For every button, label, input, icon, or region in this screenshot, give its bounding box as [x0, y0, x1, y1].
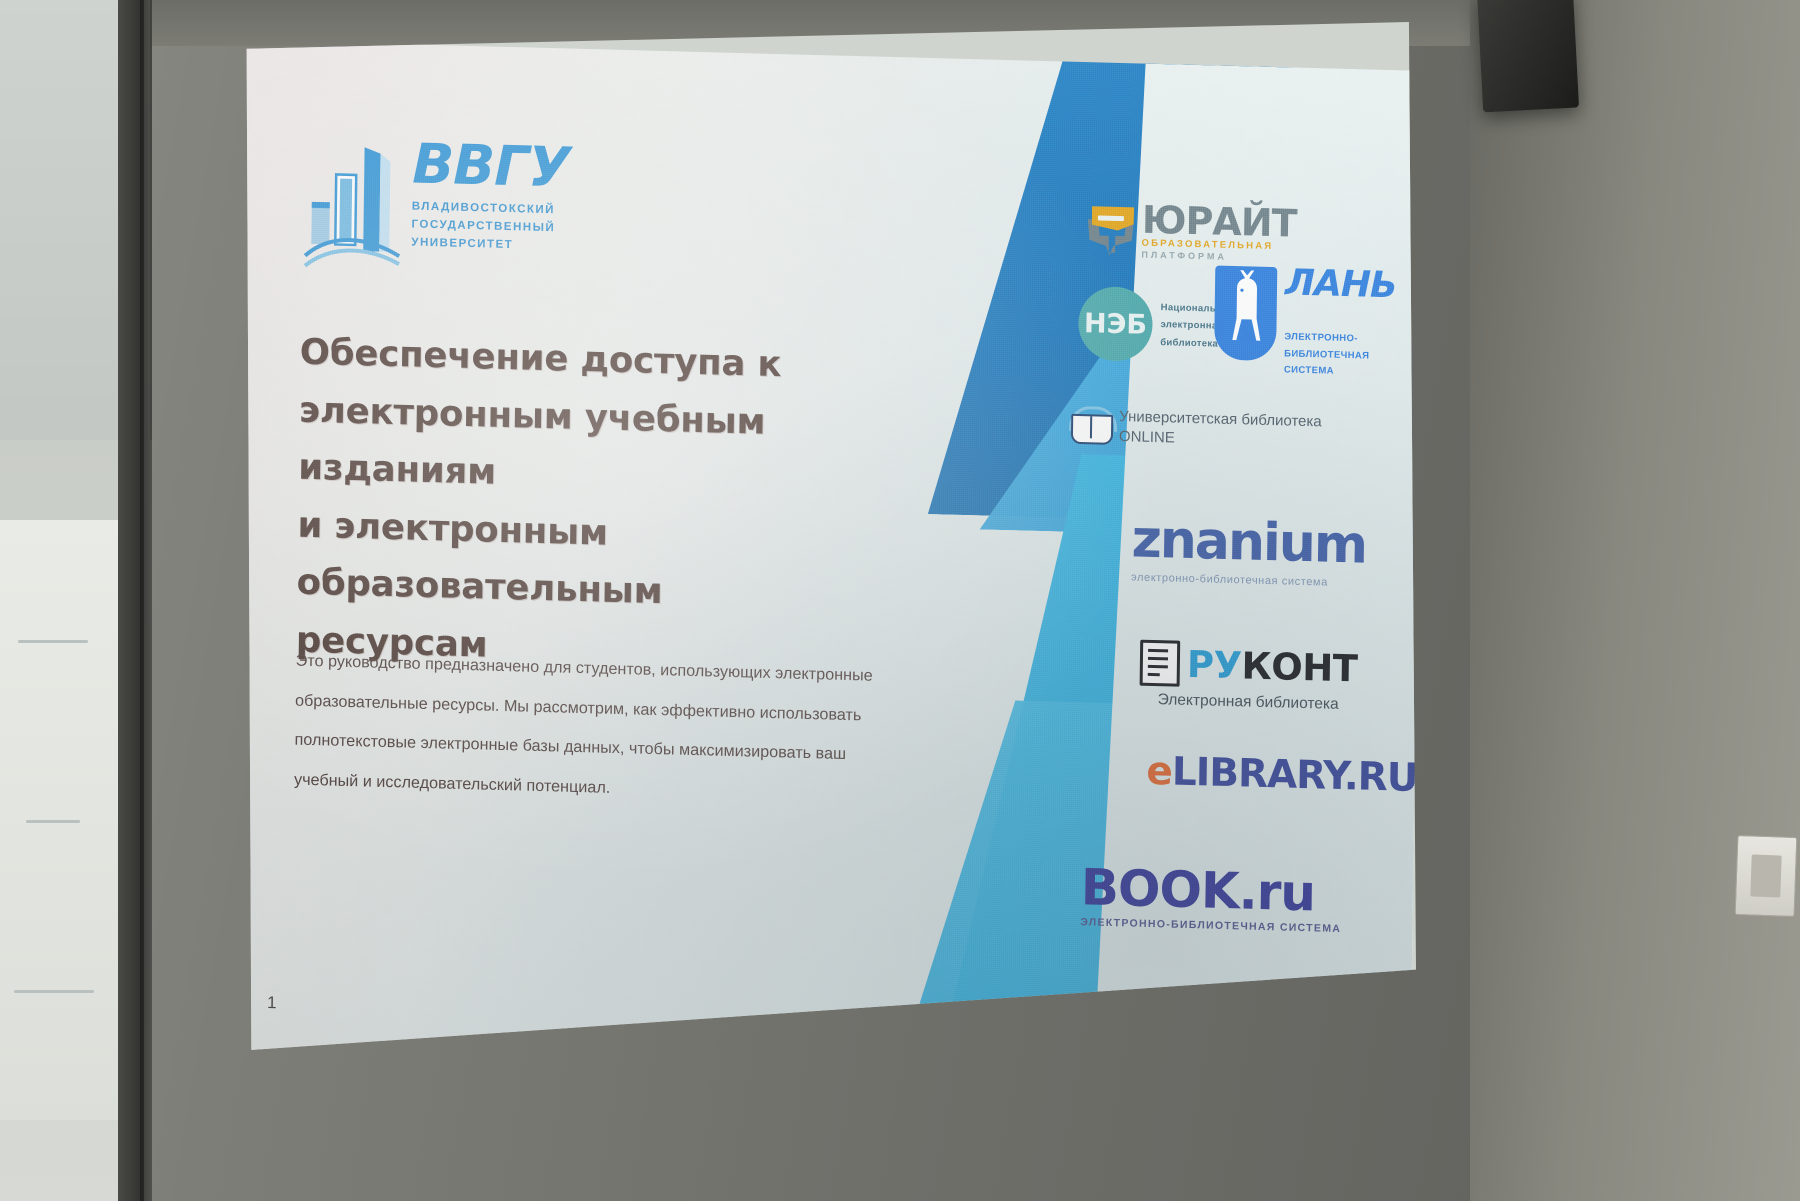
- whiteboard: [0, 520, 123, 1120]
- title-line-3: и электронным образовательным: [296, 496, 918, 627]
- slide-body-text: Это руководство предназначено для студен…: [294, 642, 896, 816]
- urait-book-flag-icon: [1087, 203, 1136, 258]
- urait-name: ЮРАЙТ: [1142, 202, 1297, 242]
- wall-corner-edge: [140, 0, 152, 1201]
- lan-deer-shield-icon: [1214, 266, 1277, 362]
- ceiling-speaker: [1477, 0, 1579, 112]
- presentation-slide: ВВГУ ВЛАДИВОСТОКСКИЙ ГОСУДАРСТВЕННЫЙ УНИ…: [230, 40, 1424, 1101]
- university-logo: ВВГУ ВЛАДИВОСТОКСКИЙ ГОСУДАРСТВЕННЫЙ УНИ…: [303, 134, 625, 302]
- logo-elibrary: eLIBRARY.RU: [1146, 752, 1417, 798]
- projection-screen: ВВГУ ВЛАДИВОСТОКСКИЙ ГОСУДАРСТВЕННЫЙ УНИ…: [236, 22, 1416, 1052]
- rukont-name-prefix: РУ: [1187, 642, 1242, 686]
- title-line-2: электронным учебным изданиям: [298, 381, 920, 512]
- logo-urait: ЮРАЙТ ОБРАЗОВАТЕЛЬНАЯ ПЛАТФОРМА: [1087, 200, 1388, 267]
- vvgu-buildings-icon: [303, 138, 409, 273]
- slide-page-number: 1: [267, 993, 277, 1013]
- room-scene: ВВГУ ВЛАДИВОСТОКСКИЙ ГОСУДАРСТВЕННЫЙ УНИ…: [0, 0, 1800, 1201]
- logo-unilib: Университетская библиотека ONLINE: [1069, 406, 1322, 453]
- lan-name: ЛАНЬ: [1285, 267, 1397, 302]
- slide-title: Обеспечение доступа к электронным учебны…: [296, 324, 921, 685]
- znanium-name: znanium: [1131, 513, 1366, 571]
- wall-right: [1470, 0, 1800, 1201]
- unilib-open-book-icon: [1069, 406, 1112, 447]
- rukont-document-icon: [1140, 640, 1181, 687]
- rukont-name-suffix: КОНТ: [1241, 644, 1357, 690]
- logo-lan: ЛАНЬ ЭЛЕКТРОННО- БИБЛИОТЕЧНАЯ СИСТЕМА: [1214, 266, 1397, 382]
- logo-bookru: BOOK.ru ЭЛЕКТРОННО-БИБЛИОТЕЧНАЯ СИСТЕМА: [1080, 862, 1342, 935]
- neb-circle-badge: НЭБ: [1078, 286, 1153, 362]
- logo-rukont: РУКОНТ Электронная библиотека: [1139, 640, 1357, 715]
- university-wordmark: ВВГУ: [412, 136, 628, 197]
- lan-subtitle-line-3: СИСТЕМА: [1284, 362, 1396, 381]
- elibrary-name-suffix: LIBRARY.RU: [1172, 750, 1418, 801]
- elibrary-name-prefix: e: [1146, 749, 1172, 795]
- logo-znanium: znanium электронно-библиотечная система: [1131, 513, 1366, 589]
- logo-neb: НЭБ Национальная электронная библиотека: [1078, 286, 1234, 364]
- wall-socket: [1735, 835, 1798, 917]
- bookru-name: BOOK.ru: [1081, 862, 1342, 919]
